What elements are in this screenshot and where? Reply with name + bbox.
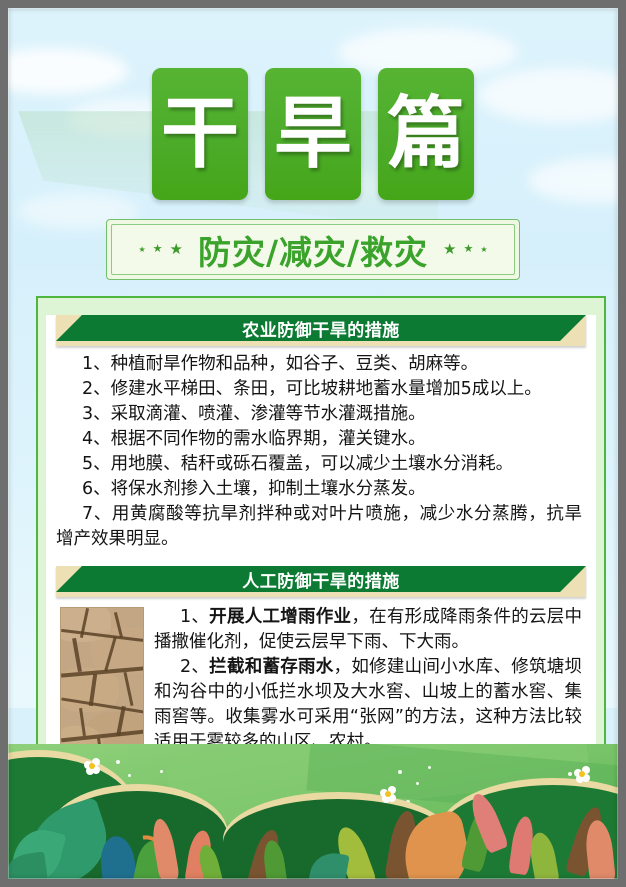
star-icon: ★ — [443, 242, 456, 257]
list-item-text: 2、修建水平梯田、条田，可比坡耕地蓄水量增加5成以上。 — [82, 379, 542, 399]
star-icon: ★ — [169, 242, 182, 257]
cracked-earth-photo — [60, 607, 144, 764]
section-1-heading-text: 农业防御干旱的措施 — [56, 315, 586, 346]
subtitle-banner: ★ ★ ★ 防灾/减灾/救灾 ★ ★ ★ — [106, 219, 520, 280]
item-bold-lead: 开展人工增雨作业 — [209, 607, 351, 627]
landscape-decoration — [8, 744, 618, 879]
title-char-2: 旱 — [274, 95, 352, 173]
list-item-text: 5、用地膜、秸秆或砾石覆盖，可以减少土壤水分消耗。 — [82, 454, 513, 474]
list-item-text: 4、根据不同作物的需水临界期，灌关键水。 — [82, 429, 426, 449]
title-card-1: 干 — [152, 68, 248, 200]
star-icon: ★ — [138, 246, 145, 254]
list-item: 7、用黄腐酸等抗旱剂拌种或对叶片喷施，减少水分蒸腾，抗旱增产效果明显。 — [56, 502, 582, 552]
flower-icon — [574, 766, 590, 782]
list-item: 5、用地膜、秸秆或砾石覆盖，可以减少土壤水分消耗。 — [56, 452, 582, 477]
sparkle-dot — [116, 760, 120, 764]
subtitle-inner-frame: ★ ★ ★ 防灾/减灾/救灾 ★ ★ ★ — [111, 224, 515, 275]
content-sheet: 农业防御干旱的措施 1、种植耐旱作物和品种，如谷子、豆类、胡麻等。 2、修建水平… — [46, 315, 596, 765]
list-item: 4、根据不同作物的需水临界期，灌关键水。 — [56, 427, 582, 452]
list-item-text: 3、采取滴灌、喷灌、渗灌等节水灌溉措施。 — [82, 404, 426, 424]
sparkle-dot — [416, 782, 419, 785]
section-2-body: 1、开展人工增雨作业，在有形成降雨条件的云层中播撒催化剂，促使云层早下雨、下大雨… — [46, 597, 596, 755]
list-item: 6、将保水剂掺入土壤，抑制土壤水分蒸发。 — [56, 477, 582, 502]
item-number: 2、 — [180, 657, 209, 677]
item-number: 1、 — [180, 607, 209, 627]
content-panel: 农业防御干旱的措施 1、种植耐旱作物和品种，如谷子、豆类、胡麻等。 2、修建水平… — [36, 296, 606, 766]
poster-canvas: 干 旱 篇 ★ ★ ★ 防灾/减灾/救灾 ★ ★ ★ — [0, 0, 626, 887]
sparkle-dot — [128, 774, 131, 777]
left-stars-decoration: ★ ★ ★ — [138, 242, 183, 257]
section-1-list: 1、种植耐旱作物和品种，如谷子、豆类、胡麻等。 2、修建水平梯田、条田，可比坡耕… — [46, 346, 596, 552]
title-card-2: 旱 — [265, 68, 361, 200]
list-item: 2、修建水平梯田、条田，可比坡耕地蓄水量增加5成以上。 — [56, 377, 582, 402]
section-2-heading-text: 人工防御干旱的措施 — [56, 566, 586, 597]
section-1-header: 农业防御干旱的措施 — [56, 315, 586, 346]
card-spine-accent — [373, 71, 381, 197]
flower-icon — [380, 786, 396, 802]
section-2-header: 人工防御干旱的措施 — [56, 566, 586, 597]
title-char-1: 干 — [161, 95, 239, 173]
star-icon: ★ — [480, 246, 487, 254]
list-item: 3、采取滴灌、喷灌、渗灌等节水灌溉措施。 — [56, 402, 582, 427]
list-item: 1、种植耐旱作物和品种，如谷子、豆类、胡麻等。 — [56, 352, 582, 377]
item-bold-lead: 拦截和蓄存雨水 — [209, 657, 333, 677]
card-spine-accent — [260, 71, 268, 197]
star-icon: ★ — [153, 244, 163, 255]
list-item-text: 7、用黄腐酸等抗旱剂拌种或对叶片喷施，减少水分蒸腾，抗旱增产效果明显。 — [56, 504, 582, 549]
sparkle-dot — [428, 766, 431, 769]
sparkle-dot — [398, 770, 402, 774]
star-icon: ★ — [464, 244, 474, 255]
subtitle-text: 防灾/减灾/救灾 — [192, 226, 434, 274]
list-item-text: 6、将保水剂掺入土壤，抑制土壤水分蒸发。 — [82, 479, 426, 499]
flower-icon — [84, 758, 100, 774]
right-stars-decoration: ★ ★ ★ — [443, 242, 488, 257]
poster-title: 干 旱 篇 — [8, 68, 618, 200]
title-card-3: 篇 — [378, 68, 474, 200]
sparkle-dot — [160, 770, 163, 773]
title-char-3: 篇 — [387, 95, 465, 173]
sparkle-dot — [568, 772, 572, 776]
list-item-text: 1、种植耐旱作物和品种，如谷子、豆类、胡麻等。 — [82, 354, 478, 374]
